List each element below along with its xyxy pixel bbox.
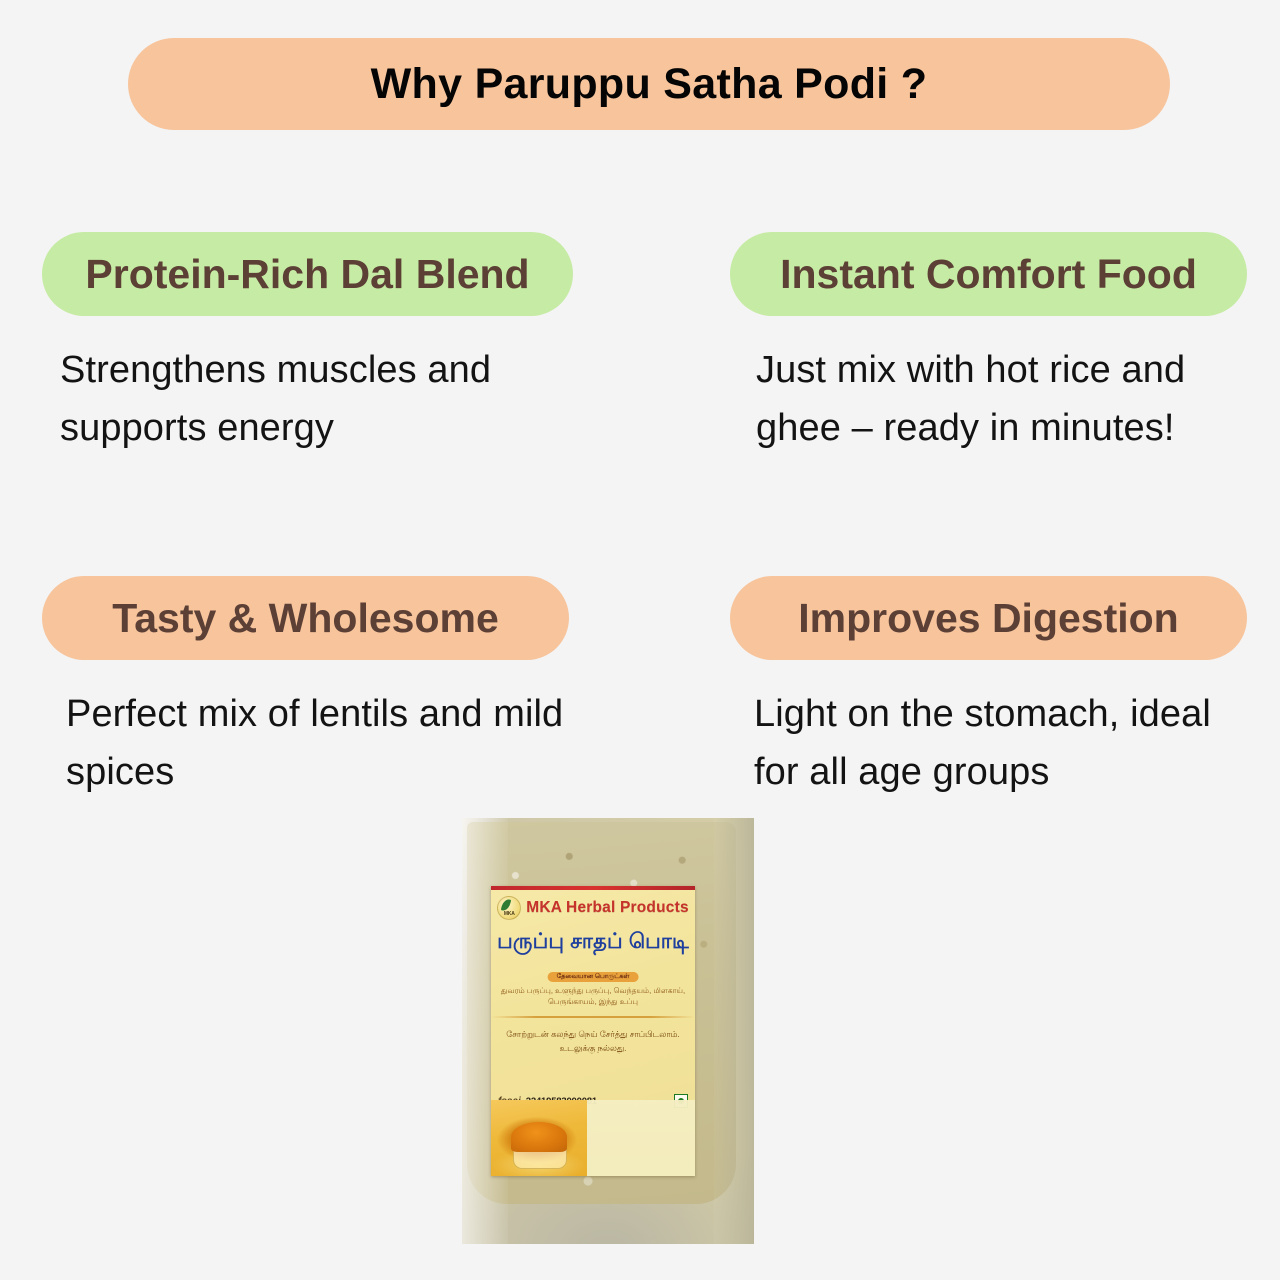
feature-heading-2: Tasty & Wholesome: [112, 598, 499, 639]
feature-body-2: Perfect mix of lentils and mild spices: [66, 686, 596, 802]
feature-card-instant-comfort-food: Instant Comfort Food Just mix with hot r…: [730, 232, 1260, 458]
feature-body-3: Light on the stomach, ideal for all age …: [754, 686, 1224, 802]
package-right-sheen: [714, 818, 754, 1244]
page-title: Why Paruppu Satha Podi ?: [371, 63, 928, 106]
logo-text: MKA: [498, 911, 520, 917]
label-divider: [491, 1016, 695, 1018]
feature-card-improves-digestion: Improves Digestion Light on the stomach,…: [730, 576, 1260, 802]
feature-heading-pill-1: Instant Comfort Food: [730, 232, 1247, 316]
feature-heading-0: Protein-Rich Dal Blend: [85, 254, 529, 295]
title-banner: Why Paruppu Satha Podi ?: [128, 38, 1170, 130]
label-blank-panel: [587, 1100, 695, 1176]
feature-body-0: Strengthens muscles and supports energy: [60, 342, 600, 458]
infographic-page: Why Paruppu Satha Podi ? Protein-Rich Da…: [0, 0, 1280, 1280]
powder-mound-shape: [511, 1122, 567, 1152]
label-powder-photo: [491, 1100, 587, 1176]
brand-name: MKA Herbal Products: [526, 899, 689, 917]
ingredients-list: துவரம் பருப்பு, உளுந்து பருப்பு, வெந்தயம…: [497, 986, 689, 1008]
ingredients-badge: தேவையான பொருட்கள்: [548, 972, 639, 982]
product-label: MKA MKA Herbal Products பருப்பு சாதப் பொ…: [491, 886, 695, 1176]
feature-heading-1: Instant Comfort Food: [780, 254, 1197, 295]
feature-heading-pill-3: Improves Digestion: [730, 576, 1247, 660]
feature-card-tasty-wholesome: Tasty & Wholesome Perfect mix of lentils…: [42, 576, 642, 802]
feature-heading-pill-0: Protein-Rich Dal Blend: [42, 232, 573, 316]
usage-instructions: சோற்றுடன் கலந்து நெய் சேர்த்து சாப்பிடலா…: [499, 1028, 687, 1055]
label-top-stripe: [491, 886, 695, 890]
brand-row: MKA MKA Herbal Products: [491, 896, 695, 920]
leaf-icon: [501, 898, 511, 911]
mka-leaf-logo-icon: MKA: [497, 896, 521, 920]
feature-heading-3: Improves Digestion: [798, 598, 1178, 639]
feature-heading-pill-2: Tasty & Wholesome: [42, 576, 569, 660]
product-name-tamil: பருப்பு சாதப் பொடி: [491, 930, 695, 953]
product-package-photo: MKA MKA Herbal Products பருப்பு சாதப் பொ…: [462, 818, 754, 1244]
feature-card-protein-rich-dal-blend: Protein-Rich Dal Blend Strengthens muscl…: [42, 232, 642, 458]
feature-body-1: Just mix with hot rice and ghee – ready …: [756, 342, 1206, 458]
